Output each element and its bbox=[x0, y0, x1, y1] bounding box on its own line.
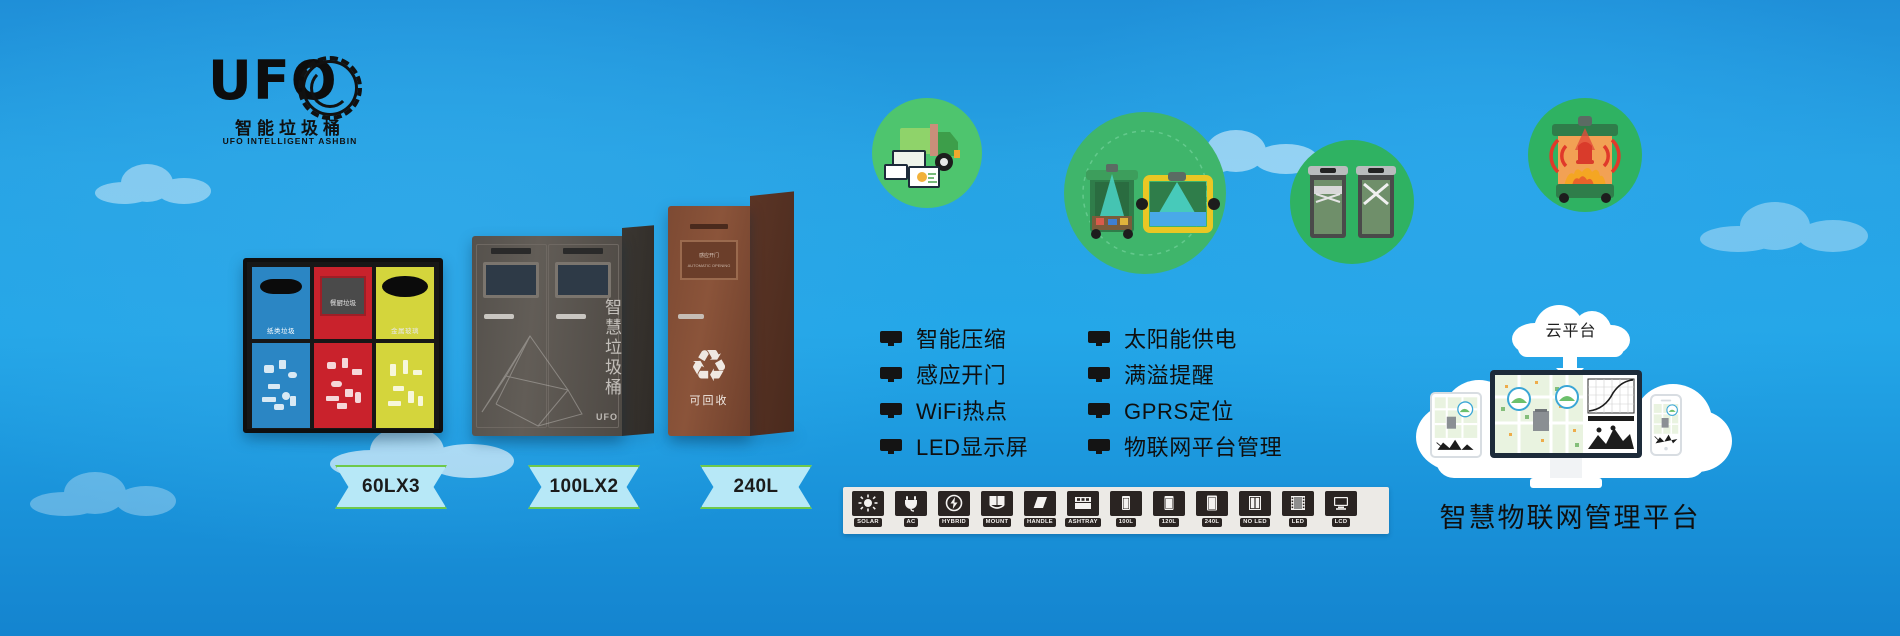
option-hybrid[interactable]: HYBRID bbox=[934, 491, 974, 531]
monitor-icon bbox=[880, 367, 902, 382]
litter-graphic bbox=[252, 343, 310, 428]
bin-compartment-label: 金属玻璃 bbox=[376, 325, 434, 335]
option-lcd[interactable]: LCD bbox=[1321, 491, 1361, 531]
feature-label: 物联网平台管理 bbox=[1124, 430, 1282, 462]
bin-screen-panel bbox=[320, 276, 366, 316]
bin-compartment-paper-bottom bbox=[252, 343, 310, 428]
cloud-platform-label: 云平台 bbox=[1512, 317, 1630, 341]
monitor-icon bbox=[880, 331, 902, 346]
promo-banner: UFO 智能垃圾桶 UFO INTELLIGENT ASHBIN 纸类垃圾 餐厨… bbox=[0, 0, 1900, 636]
feature-label: WiFi热点 bbox=[916, 394, 1008, 426]
brand-logo: UFO 智能垃圾桶 UFO INTELLIGENT ASHBIN bbox=[208, 52, 388, 157]
monitor-icon bbox=[880, 439, 902, 454]
bin-compartment-kitchen-bottom bbox=[314, 343, 372, 428]
option-120l[interactable]: 120L bbox=[1149, 491, 1189, 531]
bin-window-left bbox=[483, 262, 539, 298]
bin-brown-single: 感应开门 AUTOMATIC OPENING ♻ 可回收 bbox=[668, 196, 794, 436]
cloud-platform-badge: 云平台 bbox=[1512, 303, 1630, 355]
bin-window: 感应开门 AUTOMATIC OPENING bbox=[680, 240, 738, 280]
lcd-screen-icon bbox=[1325, 491, 1357, 516]
option-caption: 120L bbox=[1159, 518, 1179, 527]
led-panel-icon bbox=[1282, 491, 1314, 516]
cloud-decoration-right bbox=[1700, 200, 1870, 256]
feature-list-left: 智能压缩 感应开门 WiFi热点 LED显示屏 bbox=[880, 320, 1028, 464]
recycle-icon: ♻ bbox=[686, 344, 732, 390]
bin-label: 可回收 bbox=[668, 392, 750, 408]
feature-label: 满溢提醒 bbox=[1124, 358, 1214, 390]
fire-alarm-icon bbox=[1528, 98, 1642, 212]
capacity-ribbon-100lx2: 100LX2 bbox=[528, 465, 640, 509]
feature-item: GPRS定位 bbox=[1088, 392, 1282, 428]
power-plug-icon bbox=[895, 491, 927, 516]
desktop-monitor bbox=[1490, 370, 1642, 458]
option-caption: ASHTRAY bbox=[1065, 518, 1101, 527]
bin-slot-icon bbox=[260, 279, 302, 295]
option-caption: LCD bbox=[1332, 518, 1351, 527]
litter-graphic bbox=[376, 343, 434, 428]
option-handle[interactable]: HANDLE bbox=[1020, 491, 1060, 531]
bin-display-icon bbox=[491, 248, 531, 254]
feature-item: WiFi热点 bbox=[880, 392, 1028, 428]
option-caption: AC bbox=[904, 518, 919, 527]
option-caption: 100L bbox=[1116, 518, 1136, 527]
bin-screen-line1: 感应开门 bbox=[682, 252, 736, 259]
feature-list-right: 太阳能供电 满溢提醒 GPRS定位 物联网平台管理 bbox=[1088, 320, 1282, 464]
sun-icon bbox=[852, 491, 884, 516]
no-led-icon bbox=[1239, 491, 1271, 516]
option-100l[interactable]: 100L bbox=[1106, 491, 1146, 531]
monitor-icon bbox=[1088, 367, 1110, 382]
bin-screen-line2: AUTOMATIC OPENING bbox=[682, 263, 736, 268]
feature-label: GPRS定位 bbox=[1124, 394, 1234, 426]
bin-front-panel: 感应开门 AUTOMATIC OPENING ♻ 可回收 bbox=[668, 206, 750, 436]
bin-slot-icon bbox=[382, 276, 428, 298]
bin-display-icon bbox=[690, 224, 728, 229]
bin-compartment-label: 餐厨垃圾 bbox=[314, 297, 372, 307]
monitor-icon bbox=[1088, 439, 1110, 454]
feature-label: 感应开门 bbox=[916, 358, 1006, 390]
logo-english-name: UFO INTELLIGENT ASHBIN bbox=[208, 136, 372, 146]
monitor-icon bbox=[880, 403, 902, 418]
feature-label: 太阳能供电 bbox=[1124, 322, 1237, 354]
option-caption: LED bbox=[1289, 518, 1308, 527]
option-caption: HYBRID bbox=[939, 518, 969, 527]
bin-display-icon bbox=[563, 248, 603, 254]
option-led[interactable]: LED bbox=[1278, 491, 1318, 531]
capacity-ribbon-60lx3: 60LX3 bbox=[335, 465, 447, 509]
bin-window-right bbox=[555, 262, 611, 298]
option-solar[interactable]: SOLAR bbox=[848, 491, 888, 531]
smartphone-device bbox=[1650, 394, 1682, 456]
ashtray-icon bbox=[1067, 491, 1099, 516]
bin-brand-mark: UFO bbox=[596, 412, 618, 422]
hybrid-power-icon bbox=[938, 491, 970, 516]
bin-vertical-text: 智慧垃圾桶 bbox=[599, 298, 624, 398]
litter-graphic bbox=[314, 343, 372, 428]
option-ashtray[interactable]: ASHTRAY bbox=[1063, 491, 1103, 531]
bin-side-panel bbox=[750, 191, 794, 436]
feature-item: 物联网平台管理 bbox=[1088, 428, 1282, 464]
tablet-device bbox=[1430, 392, 1482, 458]
monitor-neck bbox=[1550, 458, 1582, 480]
option-mount[interactable]: MOUNT bbox=[977, 491, 1017, 531]
feature-item: 太阳能供电 bbox=[1088, 320, 1282, 356]
option-caption: MOUNT bbox=[983, 518, 1012, 527]
fill-level-sensor-icon bbox=[1064, 112, 1226, 274]
monitor-screen bbox=[1495, 375, 1637, 453]
monitor-icon bbox=[1088, 403, 1110, 418]
option-ac[interactable]: AC bbox=[891, 491, 931, 531]
capacity-ribbon-240l: 240L bbox=[700, 465, 812, 509]
option-no-led[interactable]: NO LED bbox=[1235, 491, 1275, 531]
feature-item: 智能压缩 bbox=[880, 320, 1028, 356]
fleet-monitoring-icon bbox=[872, 98, 982, 208]
option-icon-strip: SOLAR AC HYBRID MOUNT HANDLE bbox=[843, 487, 1389, 534]
bin-compartment-paper-top: 纸类垃圾 bbox=[252, 267, 310, 339]
feature-label: LED显示屏 bbox=[916, 430, 1028, 462]
feature-item: 满溢提醒 bbox=[1088, 356, 1282, 392]
bin-100l-icon bbox=[1110, 491, 1142, 516]
option-caption: HANDLE bbox=[1024, 518, 1056, 527]
feature-item: 感应开门 bbox=[880, 356, 1028, 392]
platform-caption: 智慧物联网管理平台 bbox=[1425, 496, 1715, 535]
wall-mount-icon bbox=[981, 491, 1013, 516]
iot-platform-illustration bbox=[1412, 362, 1732, 514]
bin-front-panel: 智慧垃圾桶 UFO bbox=[472, 236, 622, 436]
bin-compartment-glass-top: 金属玻璃 bbox=[376, 267, 434, 339]
bin-120l-icon bbox=[1153, 491, 1185, 516]
bin-240l-icon bbox=[1196, 491, 1228, 516]
compaction-icon bbox=[1290, 140, 1414, 264]
bin-compartment-glass-bottom bbox=[376, 343, 434, 428]
bin-handle bbox=[678, 314, 704, 319]
bin-compartment-label: 纸类垃圾 bbox=[252, 325, 310, 335]
feature-label: 智能压缩 bbox=[916, 322, 1006, 354]
option-240l[interactable]: 240L bbox=[1192, 491, 1232, 531]
monitor-base bbox=[1530, 478, 1602, 488]
cloud-decoration-left bbox=[95, 160, 215, 206]
option-caption: NO LED bbox=[1240, 518, 1270, 527]
ufo-ring-inner-icon bbox=[310, 68, 350, 108]
option-caption: 240L bbox=[1202, 518, 1222, 527]
feature-item: LED显示屏 bbox=[880, 428, 1028, 464]
bin-grey-twin: 智慧垃圾桶 UFO bbox=[472, 236, 654, 436]
bin-compartment-kitchen-top: 餐厨垃圾 bbox=[314, 267, 372, 339]
handle-icon bbox=[1024, 491, 1056, 516]
option-caption: SOLAR bbox=[854, 518, 882, 527]
cloud-decoration-bottom-left bbox=[30, 470, 180, 518]
monitor-icon bbox=[1088, 331, 1110, 346]
bin-three-compartment: 纸类垃圾 餐厨垃圾 金属玻璃 bbox=[243, 258, 443, 433]
bin-side-panel bbox=[622, 225, 654, 436]
